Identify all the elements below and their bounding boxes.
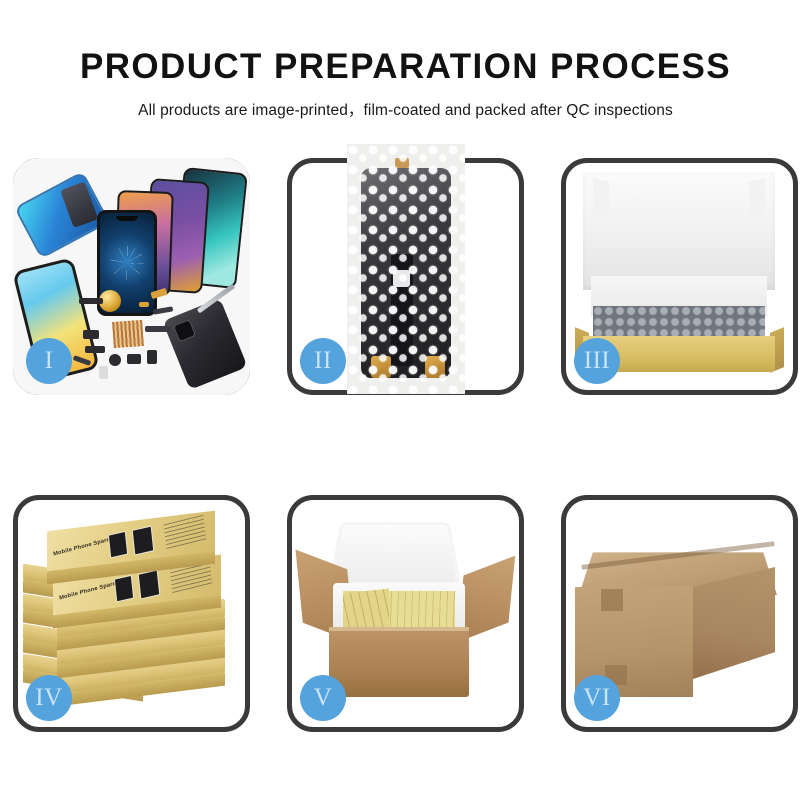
step-badge-i: I xyxy=(26,338,72,384)
bubble-texture xyxy=(347,144,465,394)
step-card-v[interactable]: V xyxy=(287,495,524,732)
box-screen-image-1a xyxy=(108,531,128,559)
step-badge-iii: III xyxy=(574,338,620,384)
step-badge-v: V xyxy=(300,675,346,721)
phone-back-housing-icon xyxy=(162,298,247,390)
part-gold-pin xyxy=(139,302,149,307)
step-card-vi[interactable]: VI xyxy=(561,495,798,732)
part-flex-2 xyxy=(145,326,171,332)
page-header: PRODUCT PREPARATION PROCESS All products… xyxy=(0,0,811,120)
part-speaker xyxy=(109,354,121,366)
step-badge-ii: II xyxy=(300,338,346,384)
step-card-ii[interactable]: II xyxy=(287,158,524,395)
stacked-box-printed-1: Mobile Phone Spare Parts xyxy=(47,511,215,572)
part-chip-2 xyxy=(83,330,99,339)
phone-blue-panel-icon xyxy=(14,171,110,259)
part-chip-5 xyxy=(147,350,157,364)
process-steps-grid: I II xyxy=(13,158,798,732)
step-card-i[interactable]: I xyxy=(13,158,250,395)
box-screen-image-2a xyxy=(114,575,134,603)
box-screen-image-1b xyxy=(132,525,155,555)
page-subtitle: All products are image-printed，film-coat… xyxy=(0,87,811,120)
part-sim-tray xyxy=(99,366,108,379)
page-title: PRODUCT PREPARATION PROCESS xyxy=(0,0,811,87)
lid-flap-right xyxy=(749,178,765,217)
copper-grid-icon xyxy=(112,320,144,348)
bubble-wrap-fill-icon xyxy=(593,306,765,340)
bubble-wrap-package xyxy=(347,144,465,394)
step-badge-iv: IV xyxy=(26,675,72,721)
step-card-iv[interactable]: Mobile Phone Spare Parts Mobile Phone Sp… xyxy=(13,495,250,732)
box-lid-icon xyxy=(583,172,775,290)
step-card-iii[interactable]: III xyxy=(561,158,798,395)
part-chip-4 xyxy=(127,354,141,364)
styrofoam-lid-icon xyxy=(329,522,462,586)
step-badge-vi: VI xyxy=(574,675,620,721)
carton-tape-patch-upper xyxy=(601,589,623,611)
part-chip-1 xyxy=(79,298,103,304)
part-chip-3 xyxy=(85,346,105,353)
lid-flap-left xyxy=(593,178,609,217)
box-screen-image-2b xyxy=(138,569,161,599)
carton-front-panel xyxy=(329,631,469,697)
